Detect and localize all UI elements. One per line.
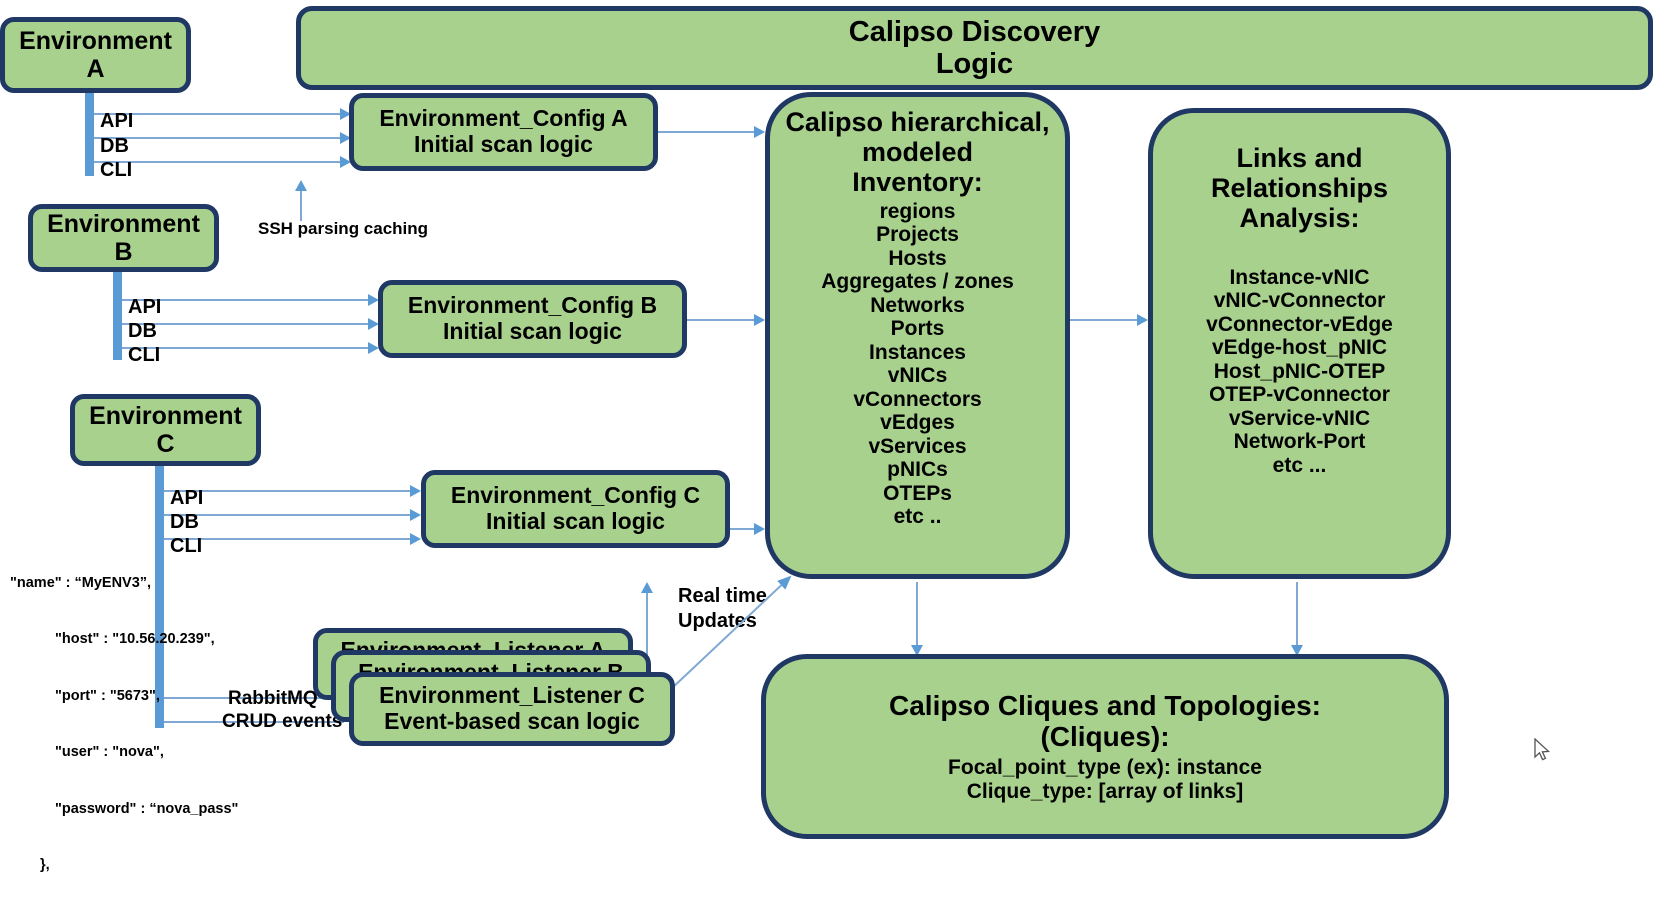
inventory-item: Hosts [888,247,946,271]
config-a-line-2: Initial scan logic [414,132,593,158]
config-b-box[interactable]: Environment_Config B Initial scan logic [378,280,687,358]
config-c-line-2: Initial scan logic [486,509,665,535]
inventory-box[interactable]: Calipso hierarchical, modeled Inventory:… [765,92,1070,579]
links-title: Links and Relationships Analysis: [1211,143,1388,234]
arrow-config-b-to-inventory [687,319,756,321]
inventory-item: pNICs [887,458,948,482]
protocol-label-db-a: DB [100,135,129,158]
links-item: Instance-vNIC [1229,266,1369,290]
arrow-ssh-vertical [300,191,302,221]
inventory-item: vConnectors [853,388,981,412]
arrow-config-c-to-inventory-head [754,523,765,535]
environment-b-line-1: Environment [47,210,200,238]
header-line-2: Logic [936,48,1013,80]
config-a-line-1: Environment_Config A [379,106,627,132]
inventory-item: Aggregates / zones [821,270,1014,294]
protocol-label-db-c: DB [170,511,199,534]
links-relationships-box[interactable]: Links and Relationships Analysis: Instan… [1148,108,1451,579]
environment-config-json: "name" : “MyENV3”, "host" : "10.56.20.23… [10,536,340,914]
arrow-config-a-to-inventory-head [754,126,765,138]
json-line: "password" : “nova_pass" [10,800,340,819]
config-b-line-2: Initial scan logic [443,319,622,345]
inventory-title-line-2: modeled [862,137,973,167]
inventory-item: vServices [868,435,966,459]
arrow-inventory-to-cliques [916,582,918,647]
inventory-title-line-1: Calipso hierarchical, [785,107,1049,137]
protocol-label-db-b: DB [128,320,157,343]
inventory-title-line-3: Inventory: [852,167,983,197]
cliques-title: Calipso Cliques and Topologies: (Cliques… [889,690,1321,753]
json-line: "user" : "nova", [10,743,340,762]
inventory-item: vEdges [880,411,955,435]
arrow-config-b-to-inventory-head [754,314,765,326]
inventory-title: Calipso hierarchical, modeled Inventory: [785,107,1049,198]
inventory-item: Ports [891,317,945,341]
listener-c-line-1: Environment_Listener C [379,683,645,709]
links-item: OTEP-vConnector [1209,383,1390,407]
arrow-c-db-head [410,509,421,521]
cliques-details: Focal_point_type (ex): instance Clique_t… [948,756,1262,803]
config-c-box[interactable]: Environment_Config C Initial scan logic [421,470,730,548]
header-banner: Calipso Discovery Logic [296,6,1653,90]
arrow-config-c-to-inventory [730,528,756,530]
links-item: Host_pNIC-OTEP [1214,360,1386,384]
header-line-1: Calipso Discovery [849,16,1100,48]
protocol-label-cli-a: CLI [100,159,132,182]
mouse-cursor [1534,738,1552,764]
arrow-a-db [94,137,342,139]
cliques-box[interactable]: Calipso Cliques and Topologies: (Cliques… [761,654,1449,839]
inventory-item: etc .. [894,505,942,529]
cliques-title-line-2: (Cliques): [1040,721,1169,752]
links-item: etc ... [1273,454,1327,478]
ssh-parsing-label: SSH parsing caching [258,219,428,239]
links-item: vConnector-vEdge [1206,313,1393,337]
links-title-line-3: Analysis: [1239,203,1359,233]
arrow-c-db [164,514,412,516]
environment-a-bus [85,93,94,176]
protocol-label-api-a: API [100,110,133,133]
arrow-c-api-head [410,485,421,497]
environment-a-line-2: A [86,55,104,83]
arrow-links-to-cliques [1296,582,1298,647]
listener-c-line-2: Event-based scan logic [384,709,640,735]
protocol-label-cli-b: CLI [128,344,160,367]
environment-c-box[interactable]: Environment C [70,394,261,466]
links-title-line-1: Links and [1236,143,1362,173]
links-item-list: Instance-vNIC vNIC-vConnector vConnector… [1206,266,1393,478]
config-b-line-1: Environment_Config B [408,293,657,319]
json-line: "name" : “MyENV3”, [10,574,340,593]
inventory-item: OTEPs [883,482,952,506]
environment-a-box[interactable]: Environment A [0,17,191,93]
links-item: vNIC-vConnector [1214,289,1386,313]
json-line: "host" : "10.56.20.239", [10,630,340,649]
config-a-box[interactable]: Environment_Config A Initial scan logic [349,93,658,171]
listener-c-box[interactable]: Environment_Listener C Event-based scan … [349,672,675,746]
cliques-detail-line: Focal_point_type (ex): instance [948,756,1262,780]
protocol-label-api-c: API [170,487,203,510]
json-line: "port" : "5673", [10,687,340,706]
arrow-c-cli-head [410,533,421,545]
inventory-item: Networks [870,294,965,318]
cliques-title-line-1: Calipso Cliques and Topologies: [889,690,1321,721]
arrow-inventory-to-links-head [1137,314,1148,326]
environment-a-line-1: Environment [19,27,172,55]
inventory-item-list: regions Projects Hosts Aggregates / zone… [821,200,1014,529]
links-item: vEdge-host_pNIC [1212,336,1387,360]
cliques-detail-line: Clique_type: [array of links] [967,780,1244,804]
diagram-canvas: Calipso Discovery Logic Environment A AP… [0,0,1661,914]
links-item: Network-Port [1234,430,1366,454]
links-title-line-2: Relationships [1211,173,1388,203]
arrow-realtime-head [641,582,653,593]
arrow-b-db [122,323,370,325]
environment-b-bus [113,272,122,360]
arrow-config-a-to-inventory [658,131,756,133]
protocol-label-api-b: API [128,296,161,319]
environment-b-box[interactable]: Environment B [28,204,219,272]
config-c-line-1: Environment_Config C [451,483,700,509]
arrow-ssh-head [295,180,307,191]
json-line: }, [10,856,340,875]
environment-b-line-2: B [114,238,132,266]
inventory-item: Projects [876,223,959,247]
environment-c-line-2: C [156,430,174,458]
links-item: vService-vNIC [1229,407,1370,431]
inventory-item: Instances [869,341,966,365]
inventory-item: vNICs [888,364,948,388]
inventory-item: regions [880,200,956,224]
environment-c-line-1: Environment [89,402,242,430]
arrow-inventory-to-links [1070,319,1139,321]
